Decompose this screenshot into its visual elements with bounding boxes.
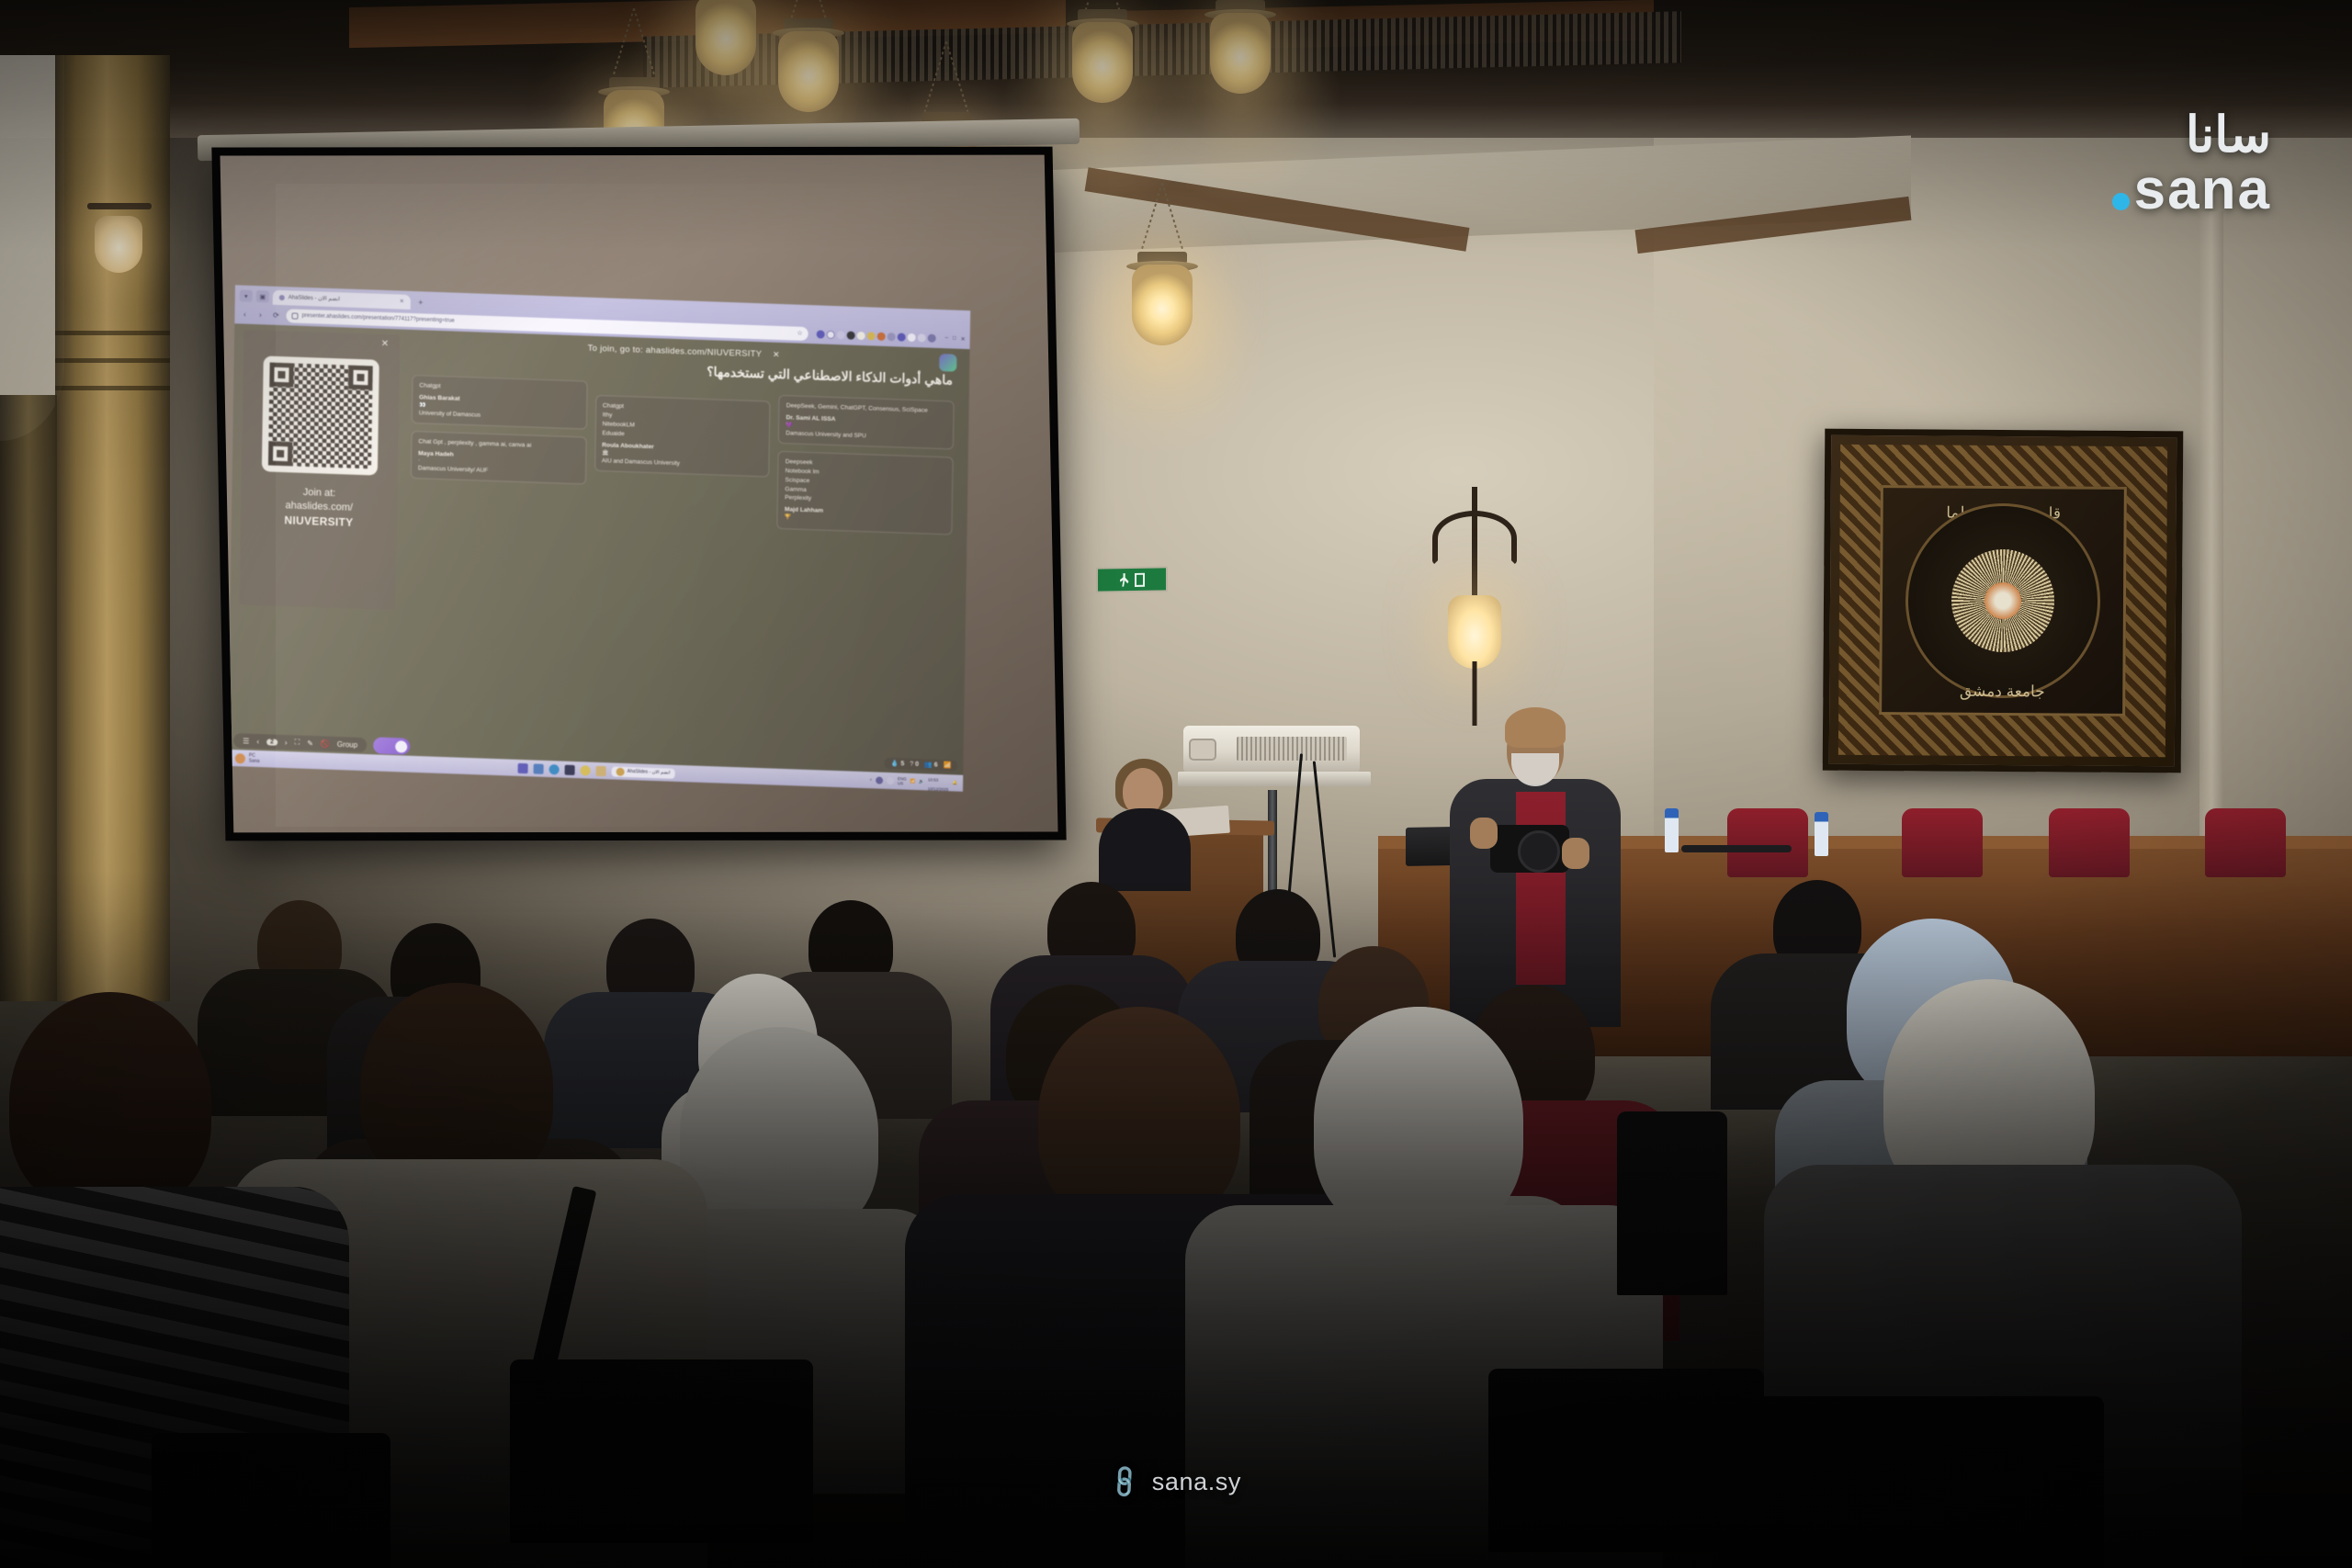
tray-icon-1[interactable] [876,776,883,784]
extension-icon-6[interactable] [867,332,876,340]
tab-title: AhaSlides - انضم الان [288,294,340,302]
back-button[interactable]: ‹ [239,310,250,318]
audience-headscarf [1314,1007,1523,1235]
screen-surface: ▾ ▣ AhaSlides - انضم الان ✕ + ‹ › ⟳ [220,155,1058,833]
questions-counter: ?0 [910,761,919,767]
bookmark-star-icon[interactable]: ☆ [797,330,802,337]
next-slide-button[interactable]: › [285,739,288,747]
taskbar-tray: ^ ENG US 📶 🔊 10:53 10/12/2025 🔔 [870,771,958,792]
tab-list-icon[interactable]: ▣ [256,290,269,302]
responses-counter: 💧5 [891,760,905,768]
tray-icon-2[interactable] [887,777,894,784]
notification-icon[interactable]: 🔔 [952,780,957,785]
address-bar-url: presenter.ahaslides.com/presentation/774… [301,313,454,324]
speaker-torso [1099,808,1191,891]
extension-icon-3[interactable] [837,331,845,339]
panel-chair [1902,808,1983,877]
pen-icon[interactable]: ✎ [307,739,313,747]
extension-icon-8[interactable] [888,333,896,341]
taskbar-icon-start[interactable] [518,762,528,773]
extension-icon-2[interactable] [827,330,835,338]
site-watermark: 🔗 sana.sy [1111,1468,1241,1496]
auditorium-chair [1718,1396,2104,1568]
sana-logo-latin-text: sana [2134,158,2271,221]
window-controls[interactable]: – □ ✕ [941,335,966,343]
audience-head [9,992,211,1213]
new-tab-button[interactable]: + [414,296,427,309]
camera [1490,825,1569,873]
wall-sconce-left [87,188,152,299]
ahaslides-logo-icon [939,354,956,372]
participants-counter: 👥6 [924,761,938,769]
wifi-icon[interactable]: 📶 [910,779,916,784]
tab-favicon [279,294,285,299]
panel-chair [1727,808,1808,877]
extension-icon-1[interactable] [817,330,825,338]
qr-code [262,355,379,475]
auditorium-chair [152,1433,390,1568]
tab-close-icon[interactable]: ✕ [400,299,404,305]
sana-logo-arabic: سانا [2134,110,2271,160]
forward-button[interactable]: › [254,310,266,319]
taskbar-icon-edge[interactable] [549,764,560,774]
maximize-button[interactable]: □ [953,335,956,342]
projector [1183,726,1360,773]
response-tools: Chatgpt [419,381,580,396]
taskbar-icon-folder[interactable] [596,765,606,775]
clock-time: 10:53 [928,777,938,782]
response-card: Chatgpt Ghias Barakat 👀 University of Da… [412,375,588,430]
sana-logo-dot [2112,193,2130,210]
table-microphone [1681,845,1792,852]
taskbar-icon-explorer[interactable] [534,763,544,773]
projector-shelf [1178,772,1371,786]
response-tools: Chatgpt Ithy NitebookLM Eduaide [602,401,763,444]
pc-icon [235,753,245,763]
fullscreen-icon[interactable]: ⛶ [295,738,300,747]
tray-language[interactable]: ENG US [898,776,907,785]
hamburger-icon[interactable]: ☰ [243,737,249,745]
menu-dots-icon[interactable] [928,333,936,342]
extension-icon-10[interactable] [908,333,916,341]
prev-slide-button[interactable]: ‹ [256,737,259,745]
sana-logo-latin: sana [2134,162,2271,219]
join-instructions: Join at: ahaslides.com/ NIUVERSITY [241,483,398,531]
link-icon: 🔗 [1105,1462,1145,1502]
taskbar-pc-entry[interactable]: PC Sana [235,752,260,764]
signal-icon: 📶 [944,761,952,769]
response-tools: Deepseek Notebook lm Scispace Gamma Perp… [785,457,945,509]
extension-icon-7[interactable] [877,332,886,340]
group-button[interactable]: Group [337,740,357,750]
volume-icon[interactable]: 🔊 [919,779,924,784]
tray-expand-icon[interactable]: ^ [870,778,872,783]
taskbar-apps: AhaSlides - انضم الان [518,762,675,778]
photographer-hand-right [1562,838,1589,869]
water-bottle [1665,808,1679,852]
questions-count: 0 [915,761,919,767]
close-button[interactable]: ✕ [961,335,966,342]
participants-count: 6 [934,761,938,768]
qr-close-icon[interactable]: ✕ [381,340,390,349]
response-card: Chat Gpt , perplexity , gamma ai, canva … [411,431,587,485]
auditorium-chair [1617,1111,1727,1295]
reload-button[interactable]: ⟳ [270,310,281,319]
response-tools: DeepSeek, Gemini, ChatGPT, Consensus, Sc… [786,401,947,416]
extension-icon-4[interactable] [847,331,855,339]
plaque-calligraphy-bottom: جامعة دمشق [1829,682,2175,703]
response-card: Chatgpt Ithy NitebookLM Eduaide Roula Ab… [594,395,771,477]
taskbar-pc-sub: Sana [249,759,260,764]
slide-body: To join, go to: ahaslides.com/NIUVERSITY… [400,333,963,750]
clock-date: 10/12/2025 [928,786,949,792]
qr-join-panel: ✕ Join at: ahaslides.com/ NIUVERSITY [240,330,401,611]
stone-column-2 [0,395,57,1001]
ornamental-wall-lamp [1419,487,1530,726]
photographer-hand-left [1470,818,1498,849]
response-card: DeepSeek, Gemini, ChatGPT, Consensus, Sc… [778,395,955,450]
extension-icon-9[interactable] [898,333,906,341]
auditorium-chair [510,1359,813,1543]
chrome-icon [616,767,625,775]
response-cards: Chatgpt Ghias Barakat 👀 University of Da… [402,375,962,536]
ahaslides-presentation: ✕ Join at: ahaslides.com/ NIUVERSITY [228,323,970,781]
sana-logo: سانا sana [2134,110,2271,219]
water-bottle [1815,812,1828,856]
taskbar-icon-app[interactable] [581,765,591,775]
photo-canvas: قل رب زدني علما جامعة دمشق ▾ ▣ AhaSlides… [0,0,2352,1568]
lock-icon [291,312,298,319]
response-card: Deepseek Notebook lm Scispace Gamma Perp… [777,451,954,536]
projection-screen: ▾ ▣ AhaSlides - انضم الان ✕ + ‹ › ⟳ [211,147,1066,841]
response-tools: Chat Gpt , perplexity , gamma ai, canva … [418,437,579,452]
browser-window[interactable]: ▾ ▣ AhaSlides - انضم الان ✕ + ‹ › ⟳ [228,285,970,792]
tab-search-icon[interactable]: ▾ [240,289,253,301]
photographer-shirt [1516,792,1566,985]
panel-chair [2205,808,2286,877]
extension-icons[interactable] [813,330,936,343]
panel-chair [2049,808,2130,877]
tray-clock: 10:53 10/12/2025 [928,773,949,792]
photographer-hair [1505,707,1566,748]
emergency-exit-sign [1096,566,1168,592]
slide-number: 2 [266,739,277,745]
running-man-icon [1120,573,1129,587]
projector-vent [1237,737,1347,761]
profile-avatar-icon[interactable] [918,333,926,342]
exit-door-icon [1135,572,1145,586]
projector-lens [1189,739,1216,761]
watermark-text: sana.sy [1152,1468,1241,1496]
taskbar-icon-store[interactable] [565,764,575,774]
eye-off-icon[interactable]: 🚫 [321,739,330,748]
taskbar-active-window[interactable]: AhaSlides - انضم الان [612,766,675,778]
responses-count: 5 [900,761,904,767]
response-counters: 💧5 ?0 👥6 📶 [885,758,958,772]
taskbar-active-title: AhaSlides - انضم الان [628,769,671,776]
timer-toggle[interactable] [373,737,410,754]
minimize-button[interactable]: – [945,335,948,342]
join-banner-close-icon[interactable]: ✕ [773,350,780,359]
damascus-university-emblem: قل رب زدني علما جامعة دمشق [1823,429,2184,773]
extension-icon-5[interactable] [857,331,865,339]
